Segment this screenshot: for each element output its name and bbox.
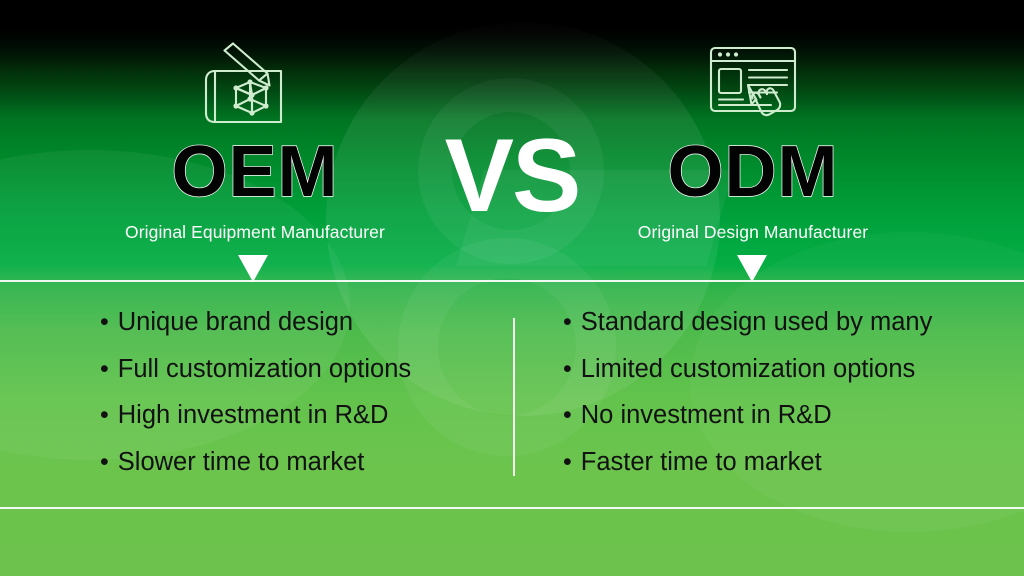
list-item-label: Unique brand design <box>118 310 353 336</box>
bullet-glyph: • <box>563 450 572 475</box>
list-item-label: Standard design used by many <box>581 310 933 336</box>
odm-bullet-list: • Standard design used by many • Limited… <box>563 310 1003 496</box>
bullet-glyph: • <box>100 357 109 382</box>
bullet-glyph: • <box>100 310 109 335</box>
versus-label: VS <box>0 124 1024 228</box>
list-item: • Slower time to market <box>100 450 500 476</box>
bullet-glyph: • <box>563 403 572 428</box>
oem-bullet-list: • Unique brand design • Full customizati… <box>100 310 500 496</box>
odm-down-triangle-icon <box>737 255 767 282</box>
bullet-glyph: • <box>100 450 109 475</box>
bullet-glyph: • <box>563 357 572 382</box>
list-item-label: Full customization options <box>118 357 411 383</box>
section-divider-top <box>0 280 1024 282</box>
bullet-glyph: • <box>100 403 109 428</box>
blueprint-pencil-icon <box>45 36 465 132</box>
list-item: • Faster time to market <box>563 450 1003 476</box>
list-item: • Standard design used by many <box>563 310 1003 336</box>
list-item-label: Slower time to market <box>118 450 365 476</box>
list-item: • Full customization options <box>100 357 500 383</box>
list-item: • High investment in R&D <box>100 403 500 429</box>
oem-down-triangle-icon <box>238 255 268 282</box>
list-item-label: High investment in R&D <box>118 403 389 429</box>
infographic-canvas: OEM Original Equipment Manufacturer <box>0 0 1024 576</box>
section-divider-bottom <box>0 507 1024 509</box>
list-item: • Limited customization options <box>563 357 1003 383</box>
list-item-label: Faster time to market <box>581 450 822 476</box>
webpage-cursor-icon <box>543 36 963 132</box>
column-divider-vertical <box>513 318 515 476</box>
list-item-label: No investment in R&D <box>581 403 832 429</box>
list-item-label: Limited customization options <box>581 357 916 383</box>
bullet-glyph: • <box>563 310 572 335</box>
list-item: • Unique brand design <box>100 310 500 336</box>
list-item: • No investment in R&D <box>563 403 1003 429</box>
